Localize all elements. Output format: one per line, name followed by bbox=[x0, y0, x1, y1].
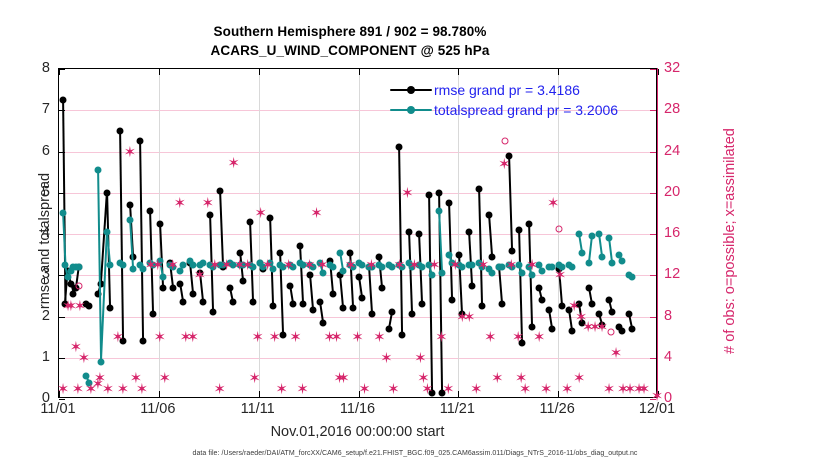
chart-title: Southern Hemisphere 891 / 902 = 98.780% … bbox=[0, 22, 700, 60]
data-point bbox=[586, 284, 593, 291]
series-segment bbox=[308, 275, 313, 310]
y-axis-label-right: # of obs: o=possible; x=assimilated bbox=[722, 91, 738, 391]
data-point bbox=[209, 309, 216, 316]
x-tick-label: 11/26 bbox=[540, 401, 575, 417]
data-point bbox=[299, 301, 306, 308]
obs-possible-marker bbox=[75, 282, 82, 289]
y-tick-label-left: 8 bbox=[0, 60, 50, 76]
data-point bbox=[466, 228, 473, 235]
data-point bbox=[519, 270, 526, 277]
data-point bbox=[246, 218, 253, 225]
series-segment bbox=[398, 147, 403, 335]
data-point bbox=[416, 231, 423, 238]
data-point bbox=[249, 299, 256, 306]
data-point bbox=[189, 290, 196, 297]
y-tick-left bbox=[59, 399, 65, 400]
data-point bbox=[309, 307, 316, 314]
x-tick-label: 11/06 bbox=[140, 401, 175, 417]
data-point bbox=[199, 299, 206, 306]
data-point bbox=[369, 311, 376, 318]
y-tick-label-right: 16 bbox=[664, 225, 680, 241]
data-point bbox=[269, 303, 276, 310]
data-point bbox=[266, 214, 273, 221]
data-point bbox=[59, 96, 66, 103]
data-point bbox=[206, 212, 213, 219]
data-point bbox=[619, 327, 626, 334]
series-segment bbox=[62, 213, 67, 265]
data-point bbox=[356, 274, 363, 281]
data-point bbox=[396, 144, 403, 151]
data-point bbox=[386, 325, 393, 332]
data-point bbox=[226, 284, 233, 291]
data-point bbox=[239, 278, 246, 285]
y-tick-label-right: 8 bbox=[664, 308, 672, 324]
data-point bbox=[389, 309, 396, 316]
data-point bbox=[316, 299, 323, 306]
obs-possible-marker bbox=[502, 138, 509, 145]
data-point bbox=[319, 319, 326, 326]
data-point bbox=[629, 274, 636, 281]
data-point bbox=[606, 297, 613, 304]
series-segment bbox=[488, 215, 493, 256]
data-point bbox=[486, 212, 493, 219]
data-point bbox=[126, 216, 133, 223]
data-point bbox=[549, 325, 556, 332]
data-point bbox=[426, 191, 433, 198]
data-point bbox=[329, 290, 336, 297]
data-point bbox=[106, 305, 113, 312]
data-point bbox=[406, 228, 413, 235]
data-point bbox=[609, 309, 616, 316]
y-tick-label-right: 12 bbox=[664, 266, 680, 282]
data-point bbox=[606, 235, 613, 242]
x-tick-label: 12/01 bbox=[639, 401, 675, 417]
data-point bbox=[609, 259, 616, 266]
x-tick-label: 11/01 bbox=[40, 401, 75, 417]
data-point bbox=[589, 301, 596, 308]
data-point bbox=[399, 332, 406, 339]
x-tick-label: 11/21 bbox=[440, 401, 475, 417]
data-point bbox=[469, 261, 476, 268]
data-point bbox=[516, 226, 523, 233]
data-point bbox=[586, 259, 593, 266]
y-tick-label-right: 20 bbox=[664, 184, 680, 200]
data-point bbox=[579, 249, 586, 256]
data-point bbox=[103, 228, 110, 235]
data-point bbox=[339, 305, 346, 312]
data-point bbox=[64, 274, 71, 281]
data-point bbox=[119, 261, 126, 268]
data-point bbox=[526, 220, 533, 227]
data-point bbox=[589, 233, 596, 240]
series-segment bbox=[338, 275, 343, 308]
series-segment bbox=[518, 230, 523, 343]
data-point bbox=[94, 167, 101, 174]
data-point bbox=[436, 208, 443, 215]
legend-label-totalspread: totalspread grand pr = 3.2006 bbox=[434, 102, 618, 118]
data-point bbox=[136, 138, 143, 145]
data-point bbox=[626, 311, 633, 318]
data-point bbox=[229, 299, 236, 306]
data-point bbox=[469, 282, 476, 289]
series-segment bbox=[468, 232, 473, 286]
data-point bbox=[379, 284, 386, 291]
y-axis-label-left: rmse and totalspread bbox=[37, 111, 53, 371]
data-point bbox=[569, 327, 576, 334]
data-point bbox=[539, 297, 546, 304]
data-point bbox=[97, 358, 104, 365]
obs-possible-marker bbox=[556, 225, 563, 232]
data-point bbox=[85, 303, 92, 310]
data-point bbox=[509, 247, 516, 254]
data-point bbox=[489, 270, 496, 277]
data-point bbox=[629, 325, 636, 332]
data-point bbox=[149, 311, 156, 318]
series-segment bbox=[139, 141, 144, 341]
data-point bbox=[349, 305, 356, 312]
data-point bbox=[146, 208, 153, 215]
data-point bbox=[576, 231, 583, 238]
data-point bbox=[599, 253, 606, 260]
data-point bbox=[106, 261, 113, 268]
legend-label-rmse: rmse grand pr = 3.4186 bbox=[434, 82, 580, 98]
data-point bbox=[499, 301, 506, 308]
data-point bbox=[59, 210, 66, 217]
data-point bbox=[139, 338, 146, 345]
series-segment bbox=[119, 131, 124, 341]
series-segment bbox=[368, 267, 373, 315]
data-point bbox=[379, 264, 386, 271]
data-point bbox=[476, 185, 483, 192]
data-point bbox=[179, 261, 186, 268]
data-point bbox=[289, 301, 296, 308]
data-point bbox=[159, 274, 166, 281]
data-point bbox=[216, 187, 223, 194]
data-point bbox=[569, 264, 576, 271]
data-point bbox=[546, 307, 553, 314]
data-point bbox=[75, 264, 82, 271]
data-point bbox=[596, 231, 603, 238]
series-segment bbox=[498, 267, 503, 304]
data-point bbox=[129, 266, 136, 273]
y-tick-label-right: 4 bbox=[664, 349, 672, 365]
y-tick-label-right: 32 bbox=[664, 60, 680, 76]
x-tick-label: 11/16 bbox=[340, 401, 375, 417]
data-point bbox=[116, 127, 123, 134]
data-point bbox=[169, 284, 176, 291]
data-point bbox=[159, 284, 166, 291]
title-line-2: ACARS_U_WIND_COMPONENT @ 525 hPa bbox=[0, 41, 700, 60]
x-tick-label: 11/11 bbox=[241, 401, 275, 417]
data-file-footer: data file: /Users/raeder/DAI/ATM_forcXX/… bbox=[0, 450, 830, 457]
obs-possible-marker bbox=[608, 328, 615, 335]
right-axis-line bbox=[657, 68, 658, 398]
data-point bbox=[436, 189, 443, 196]
data-point bbox=[539, 268, 546, 275]
series-segment bbox=[478, 189, 483, 307]
legend: rmse grand pr = 3.4186 totalspread grand… bbox=[390, 80, 618, 120]
data-point bbox=[103, 189, 110, 196]
data-point bbox=[156, 220, 163, 227]
legend-entry-totalspread[interactable]: totalspread grand pr = 3.2006 bbox=[390, 100, 618, 120]
data-point bbox=[419, 301, 426, 308]
data-point bbox=[446, 200, 453, 207]
data-point bbox=[179, 299, 186, 306]
x-tick bbox=[658, 69, 659, 75]
y-tick-label-right: 24 bbox=[664, 143, 680, 159]
data-point bbox=[296, 243, 303, 250]
legend-entry-rmse[interactable]: rmse grand pr = 3.4186 bbox=[390, 80, 618, 100]
data-point bbox=[176, 280, 183, 287]
data-point bbox=[559, 303, 566, 310]
data-point bbox=[479, 303, 486, 310]
data-point bbox=[359, 294, 366, 301]
x-axis-label: Nov.01,2016 00:00:00 start bbox=[58, 424, 657, 440]
y-tick-label-right: 28 bbox=[664, 101, 680, 117]
legend-swatch-rmse bbox=[390, 89, 432, 91]
data-point bbox=[536, 284, 543, 291]
series-segment bbox=[428, 195, 433, 393]
legend-swatch-totalspread bbox=[390, 109, 432, 111]
title-line-1: Southern Hemisphere 891 / 902 = 98.780% bbox=[0, 22, 700, 41]
data-point bbox=[336, 249, 343, 256]
data-point bbox=[449, 297, 456, 304]
data-point bbox=[489, 253, 496, 260]
data-point bbox=[329, 264, 336, 271]
data-point bbox=[286, 282, 293, 289]
data-point bbox=[409, 311, 416, 318]
data-point bbox=[126, 202, 133, 209]
data-point bbox=[619, 257, 626, 264]
